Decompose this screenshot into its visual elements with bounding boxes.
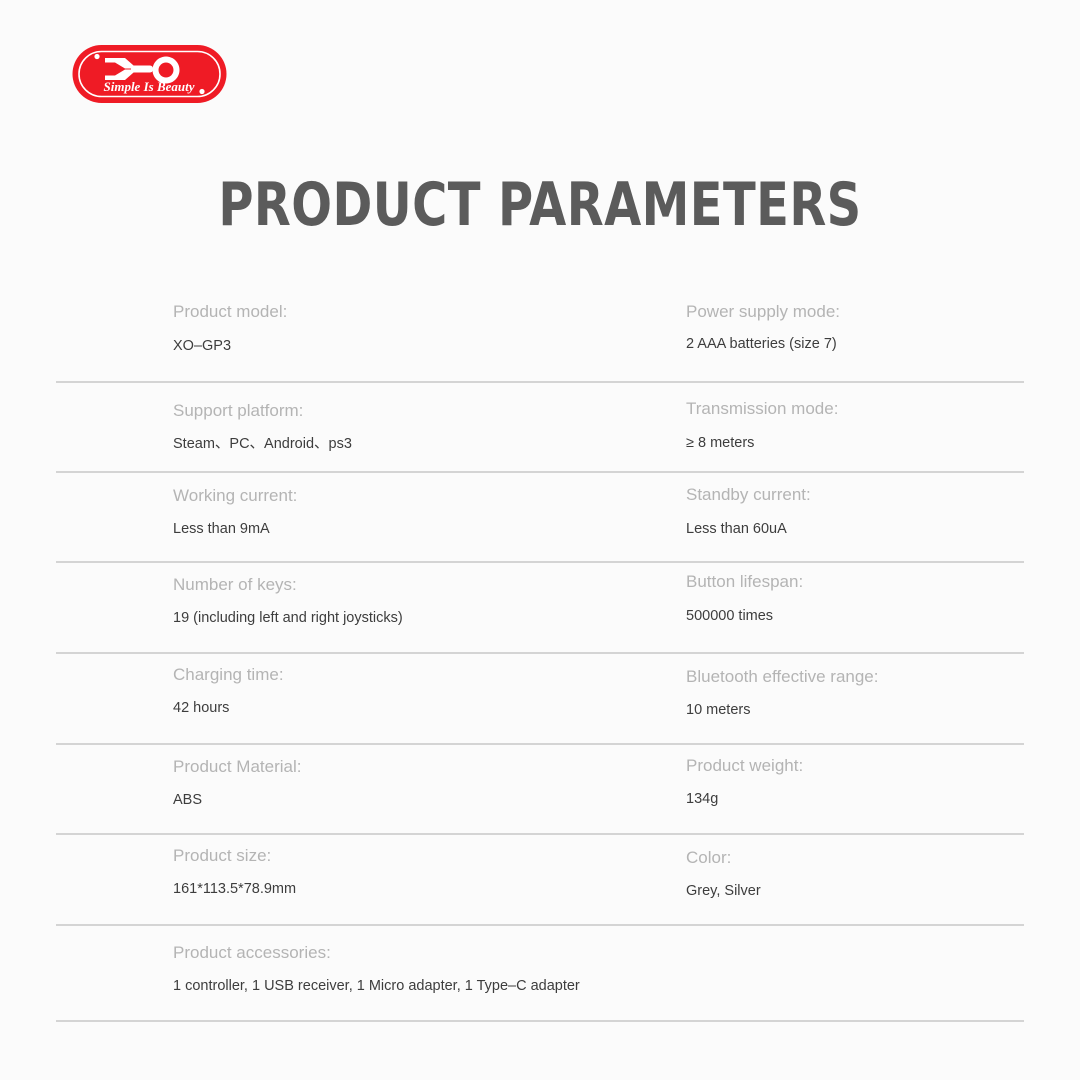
spec-value: Steam、PC、Android、ps3 (173, 434, 693, 454)
spec-value: Grey, Silver (686, 881, 1046, 901)
spec-label: Product model: (173, 301, 693, 323)
spec-value: ≥ 8 meters (686, 433, 1046, 453)
spec-label: Working current: (173, 485, 693, 507)
table-row: Number of keys: 19 (including left and r… (56, 563, 1024, 654)
page-title: PRODUCT PARAMETERS (108, 172, 972, 238)
spec-cell-charging-time: Charging time: 42 hours (173, 664, 693, 718)
spec-label: Support platform: (173, 400, 693, 422)
spec-cell-support-platform: Support platform: Steam、PC、Android、ps3 (173, 400, 693, 454)
xo-logo-icon: Simple Is Beauty (71, 41, 228, 107)
spec-label: Transmission mode: (686, 398, 1046, 420)
spec-label: Product accessories: (173, 942, 1023, 964)
spec-cell-product-weight: Product weight: 134g (686, 755, 1046, 809)
spec-label: Bluetooth effective range: (686, 666, 1046, 688)
spec-value: 1 controller, 1 USB receiver, 1 Micro ad… (173, 976, 1023, 996)
spec-value: 2 AAA batteries (size 7) (686, 334, 1046, 354)
table-row: Support platform: Steam、PC、Android、ps3 T… (56, 383, 1024, 473)
table-row: Product size: 161*113.5*78.9mm Color: Gr… (56, 835, 1024, 926)
spec-label: Standby current: (686, 484, 1046, 506)
spec-label: Number of keys: (173, 574, 693, 596)
spec-value: 42 hours (173, 698, 693, 718)
spec-label: Product size: (173, 845, 693, 867)
brand-logo: Simple Is Beauty (71, 41, 228, 107)
spec-cell-product-size: Product size: 161*113.5*78.9mm (173, 845, 693, 899)
spec-value: Less than 60uA (686, 519, 1046, 539)
spec-label: Color: (686, 847, 1046, 869)
table-row: Working current: Less than 9mA Standby c… (56, 473, 1024, 563)
spec-cell-product-accessories: Product accessories: 1 controller, 1 USB… (173, 942, 1023, 996)
spec-cell-working-current: Working current: Less than 9mA (173, 485, 693, 539)
spec-value: Less than 9mA (173, 519, 693, 539)
spec-value: 19 (including left and right joysticks) (173, 608, 693, 628)
table-row: Product accessories: 1 controller, 1 USB… (56, 926, 1024, 1022)
spec-cell-bluetooth-range: Bluetooth effective range: 10 meters (686, 666, 1046, 720)
spec-value: 161*113.5*78.9mm (173, 879, 693, 899)
spec-label: Power supply mode: (686, 301, 1046, 323)
spec-cell-product-material: Product Material: ABS (173, 756, 693, 810)
spec-cell-button-lifespan: Button lifespan: 500000 times (686, 571, 1046, 626)
logo-tagline: Simple Is Beauty (103, 79, 194, 94)
spec-label: Charging time: (173, 664, 693, 686)
spec-value: 134g (686, 789, 1046, 809)
spec-cell-transmission-mode: Transmission mode: ≥ 8 meters (686, 398, 1046, 453)
spec-value: 500000 times (686, 606, 1046, 626)
spec-cell-power-supply-mode: Power supply mode: 2 AAA batteries (size… (686, 301, 1046, 354)
spec-label: Product Material: (173, 756, 693, 778)
spec-cell-number-of-keys: Number of keys: 19 (including left and r… (173, 574, 693, 628)
spec-value: XO–GP3 (173, 336, 693, 356)
spec-label: Button lifespan: (686, 571, 1046, 593)
product-parameters-table: Product model: XO–GP3 Power supply mode:… (56, 295, 1024, 1022)
spec-label: Product weight: (686, 755, 1046, 777)
spec-cell-color: Color: Grey, Silver (686, 847, 1046, 901)
table-row: Product Material: ABS Product weight: 13… (56, 745, 1024, 835)
spec-cell-standby-current: Standby current: Less than 60uA (686, 484, 1046, 539)
spec-value: ABS (173, 790, 693, 810)
spec-value: 10 meters (686, 700, 1046, 720)
spec-cell-product-model: Product model: XO–GP3 (173, 301, 693, 356)
table-row: Charging time: 42 hours Bluetooth effect… (56, 654, 1024, 745)
table-row: Product model: XO–GP3 Power supply mode:… (56, 295, 1024, 383)
